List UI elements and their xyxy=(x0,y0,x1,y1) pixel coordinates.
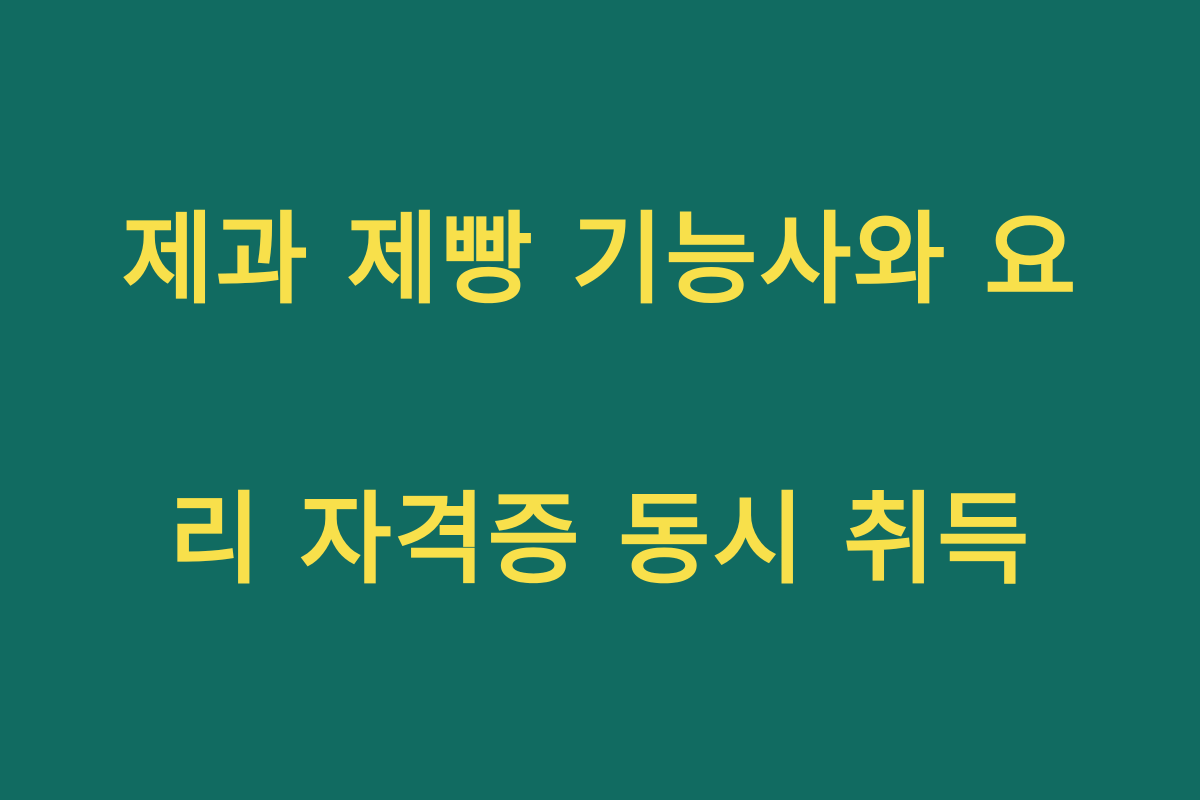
headline-line-2: 리 자격증 동시 취득 xyxy=(70,470,1130,610)
banner-canvas: 제과 제빵 기능사와 요 리 자격증 동시 취득 xyxy=(0,0,1200,800)
headline-text: 제과 제빵 기능사와 요 리 자격증 동시 취득 xyxy=(70,50,1130,750)
headline-line-1: 제과 제빵 기능사와 요 xyxy=(70,190,1130,330)
